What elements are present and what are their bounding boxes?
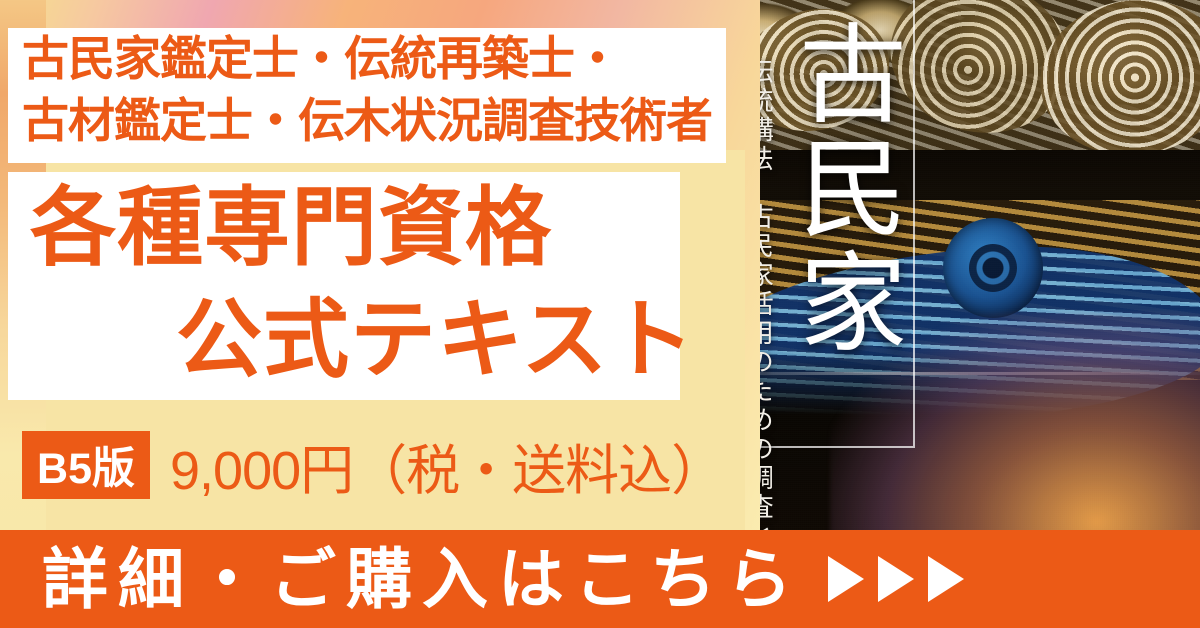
blue-family-crest-medallion — [943, 218, 1043, 318]
cta-bar[interactable]: 詳細・ご購入はこちら — [0, 530, 1200, 628]
book-cover-image: 古民家 伝統構法 古民家活用のための調査と再生の — [700, 0, 1200, 582]
headline-line-2: 古材鑑定士・伝木状況調査技術者 — [8, 90, 726, 152]
book-vertical-title: 古民家 — [762, 18, 908, 360]
cta-label: 詳細・ご購入はこちら — [42, 546, 802, 612]
format-badge: B5版 — [22, 431, 150, 499]
price-row: B5版 9,000円（税・送料込） — [0, 428, 745, 502]
title-panel: 各種専門資格 公式テキスト — [8, 172, 680, 400]
headline-line-1: 古民家鑑定士・伝統再築士・ — [8, 28, 726, 90]
title-line-2: 公式テキスト — [8, 284, 680, 396]
title-line-1: 各種専門資格 — [8, 172, 680, 284]
cta-arrows — [828, 556, 964, 602]
play-triangle-icon — [928, 556, 964, 602]
price-text: 9,000円（税・送料込） — [170, 426, 724, 505]
headline-panel: 古民家鑑定士・伝統再築士・ 古材鑑定士・伝木状況調査技術者 — [8, 28, 726, 163]
play-triangle-icon — [878, 556, 914, 602]
promo-banner: 古民家 伝統構法 古民家活用のための調査と再生の 古民家鑑定士・伝統再築士・ 古… — [0, 0, 1200, 628]
play-triangle-icon — [828, 556, 864, 602]
